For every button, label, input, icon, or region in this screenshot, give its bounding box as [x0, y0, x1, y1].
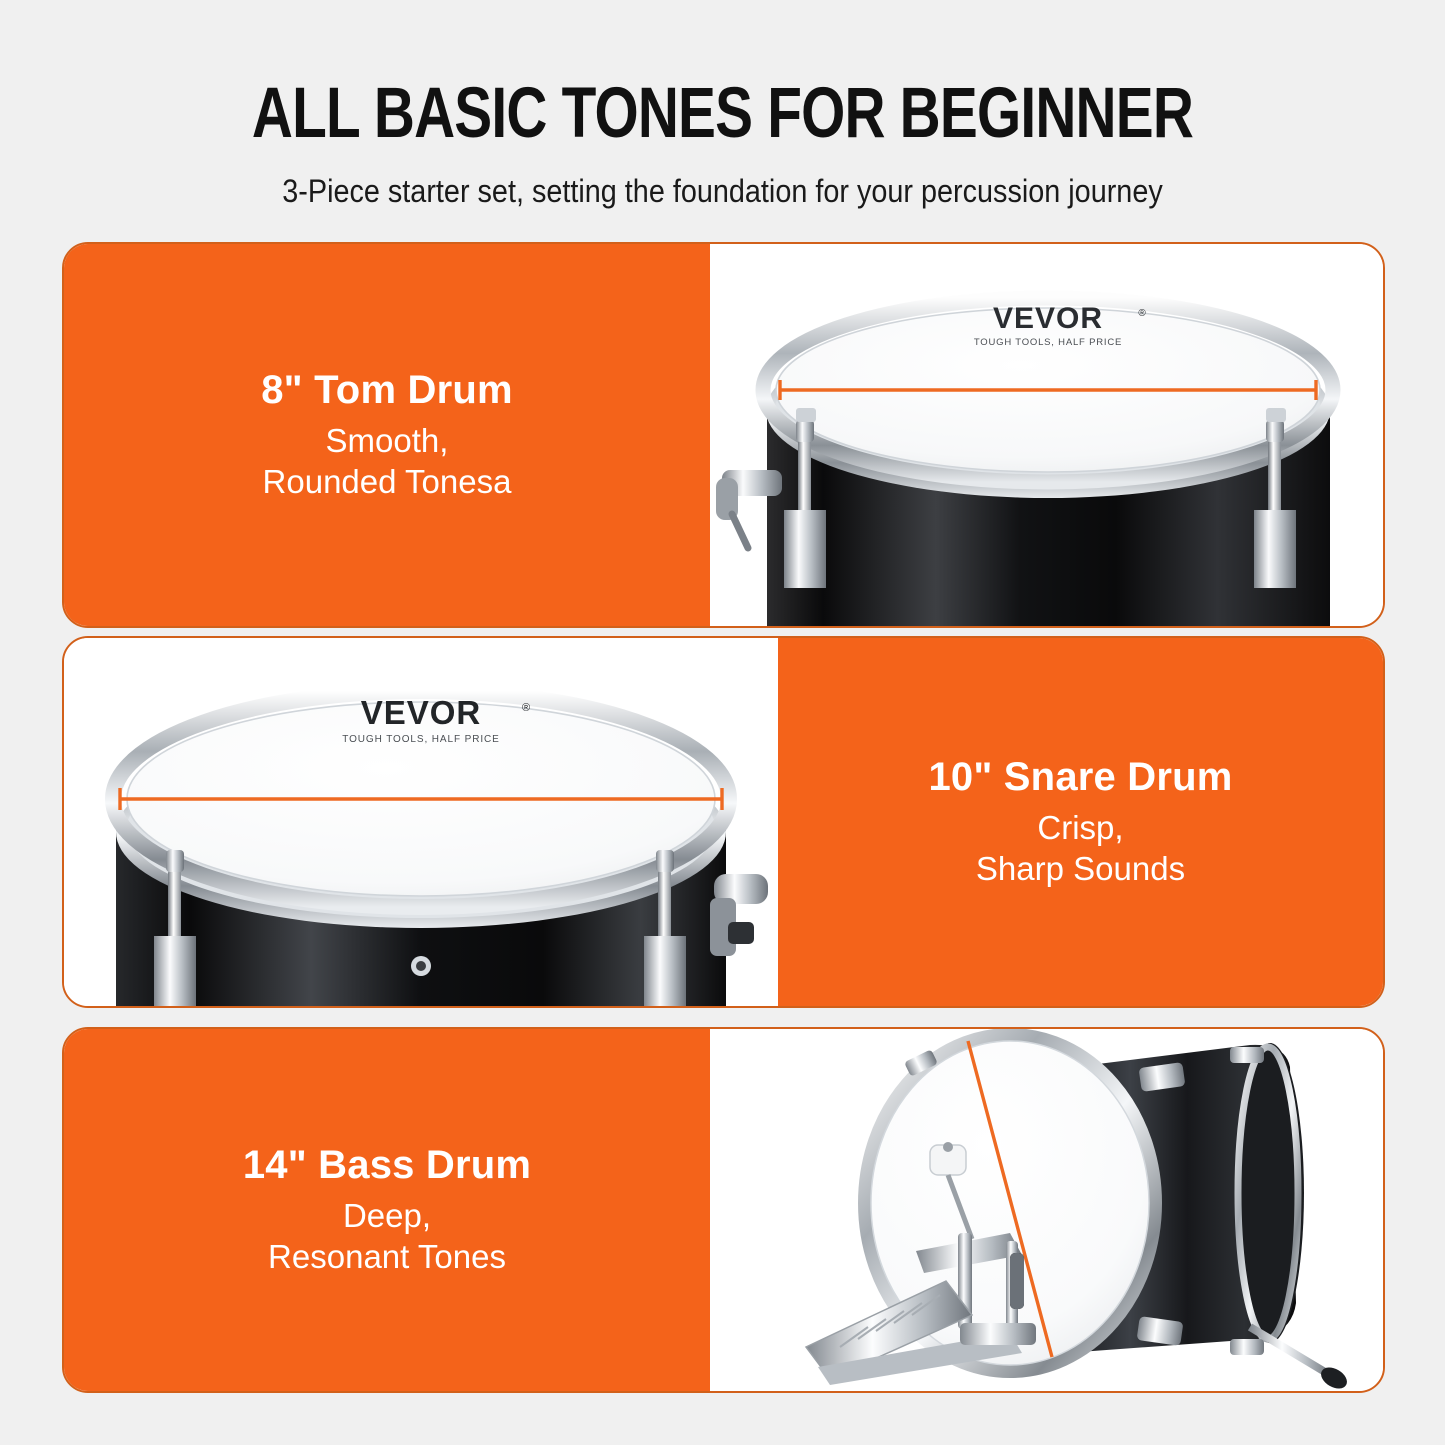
card-image-pane: VEVOR ® TOUGH TOOLS, HALF PRICE — [710, 244, 1383, 626]
drum-subtitle: Crisp, Sharp Sounds — [976, 808, 1185, 889]
bass-drum-photo — [710, 1029, 1383, 1391]
card-image-pane — [710, 1029, 1383, 1391]
card-image-pane: VEVOR ® TOUGH TOOLS, HALF PRICE — [64, 638, 778, 1006]
drum-subtitle: Deep, Resonant Tones — [268, 1196, 506, 1277]
svg-text:TOUGH TOOLS, HALF PRICE: TOUGH TOOLS, HALF PRICE — [342, 734, 499, 745]
infographic-page: ALL BASIC TONES FOR BEGINNER 3-Piece sta… — [0, 0, 1445, 1445]
tom-drum-photo: VEVOR ® TOUGH TOOLS, HALF PRICE — [710, 244, 1383, 626]
card-text-pane: 10" Snare Drum Crisp, Sharp Sounds — [778, 638, 1383, 1006]
card-text-pane: 8" Tom Drum Smooth, Rounded Tonesa — [64, 244, 710, 626]
snare-drum-photo: VEVOR ® TOUGH TOOLS, HALF PRICE — [64, 638, 778, 1006]
page-subtitle: 3-Piece starter set, setting the foundat… — [72, 173, 1373, 210]
strainer-throw-off — [710, 874, 768, 956]
bass-drum-leg — [1250, 1327, 1351, 1391]
svg-text:VEVOR: VEVOR — [993, 302, 1103, 335]
page-title: ALL BASIC TONES FOR BEGINNER — [145, 78, 1301, 149]
svg-text:VEVOR: VEVOR — [361, 694, 482, 731]
drum-title: 10" Snare Drum — [928, 755, 1232, 800]
drum-title: 8" Tom Drum — [261, 368, 513, 413]
air-vent — [411, 956, 431, 976]
feature-card-bass: 14" Bass Drum Deep, Resonant Tones — [62, 1027, 1385, 1393]
svg-text:®: ® — [522, 702, 530, 714]
drum-subtitle: Smooth, Rounded Tonesa — [263, 421, 512, 502]
svg-text:TOUGH TOOLS, HALF PRICE: TOUGH TOOLS, HALF PRICE — [974, 337, 1122, 348]
svg-text:®: ® — [1138, 308, 1146, 319]
header: ALL BASIC TONES FOR BEGINNER 3-Piece sta… — [0, 0, 1445, 210]
feature-card-snare: VEVOR ® TOUGH TOOLS, HALF PRICE — [62, 636, 1385, 1008]
feature-card-tom: 8" Tom Drum Smooth, Rounded Tonesa — [62, 242, 1385, 628]
card-text-pane: 14" Bass Drum Deep, Resonant Tones — [64, 1029, 710, 1391]
drum-title: 14" Bass Drum — [243, 1143, 531, 1188]
